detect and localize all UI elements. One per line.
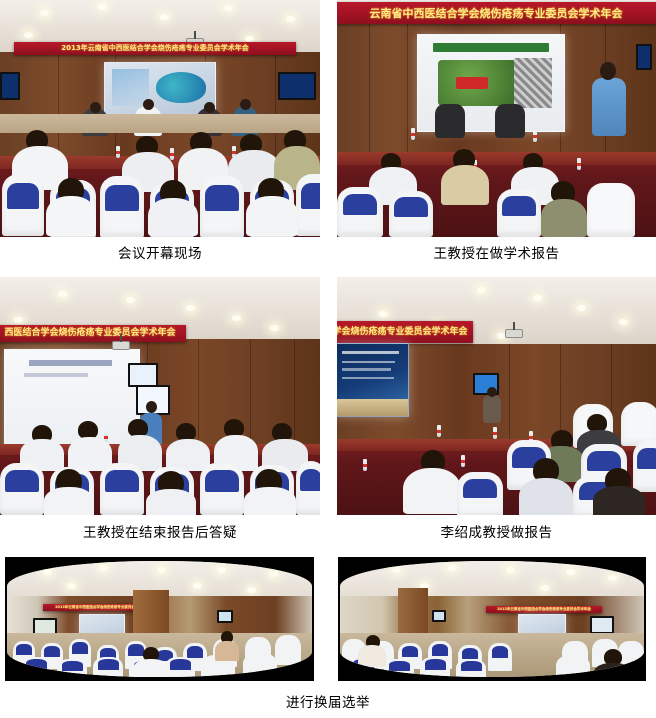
photo-image-3[interactable]: 西医结合学会烧伤疮疡专业委员会学术年会 xyxy=(0,277,320,515)
projection-screen xyxy=(337,343,409,417)
side-monitor xyxy=(128,363,158,387)
audience xyxy=(0,415,320,515)
photo-caption-3: 王教授在结束报告后答疑 xyxy=(0,523,320,543)
photo-image-6[interactable]: 2013年云南省中西医结合学会烧伤疮疡专业委员会学术年会 xyxy=(338,557,646,681)
hall-scene: 云南省中西医结合学会烧伤疮疡专业委员会学术年会 xyxy=(337,0,656,237)
audience xyxy=(337,147,656,237)
projection-screen xyxy=(104,62,216,116)
photo-image-1[interactable]: 2013年云南省中西医结合学会烧伤疮疡专业委员会学术年会 xyxy=(0,0,320,237)
photo-image-4[interactable]: 学会烧伤疮疡专业委员会学术年会 xyxy=(337,277,656,515)
conference-banner-6: 2013年云南省中西医结合学会烧伤疮疡专业委员会学术年会 xyxy=(486,606,602,613)
ceiling-light xyxy=(224,5,233,11)
speaker xyxy=(592,78,626,136)
ceiling-light xyxy=(98,4,107,10)
audience xyxy=(0,128,320,237)
photo-image-2[interactable]: 云南省中西医结合学会烧伤疮疡专业委员会学术年会 xyxy=(337,0,656,237)
photo-cell-6: 2013年云南省中西医结合学会烧伤疮疡专业委员会学术年会 xyxy=(338,557,646,681)
conference-banner-4: 学会烧伤疮疡专业委员会学术年会 xyxy=(337,321,473,343)
photo-caption-5: 进行换届选举 xyxy=(0,693,656,713)
photo-caption-2: 王教授在做学术报告 xyxy=(337,244,656,264)
conference-banner-1: 2013年云南省中西医结合学会烧伤疮疡专业委员会学术年会 xyxy=(14,42,296,55)
photo-row-2: 西医结合学会烧伤疮疡专业委员会学术年会 xyxy=(0,277,656,543)
projector-icon xyxy=(112,341,130,350)
photo-cell-4: 学会烧伤疮疡专业委员会学术年会 xyxy=(337,277,656,543)
hall-scene: 2013年云南省中西医结合学会烧伤疮疡专业委员会学术年会 xyxy=(0,0,320,237)
photo-cell-2: 云南省中西医结合学会烧伤疮疡专业委员会学术年会 xyxy=(337,0,656,264)
audience xyxy=(337,410,656,515)
photo-caption-1: 会议开幕现场 xyxy=(0,244,320,264)
hall-scene: 西医结合学会烧伤疮疡专业委员会学术年会 xyxy=(0,277,320,515)
photo-cell-1: 2013年云南省中西医结合学会烧伤疮疡专业委员会学术年会 xyxy=(0,0,320,264)
projector-icon xyxy=(505,329,523,338)
photo-caption-4: 李绍成教授做报告 xyxy=(337,523,656,543)
conference-banner-3: 西医结合学会烧伤疮疡专业委员会学术年会 xyxy=(0,325,186,342)
ceiling-light xyxy=(160,14,169,20)
side-monitor-left xyxy=(0,72,20,100)
ceiling-light xyxy=(40,10,49,16)
photo-cell-5: 2013年云南省中西医结合学会烧伤疮疡专业委员会学术年会 xyxy=(5,557,314,681)
side-monitor-right xyxy=(636,44,652,70)
ceiling-light xyxy=(24,32,33,38)
photo-row-3: 2013年云南省中西医结合学会烧伤疮疡专业委员会学术年会 xyxy=(0,557,656,681)
ceiling-light xyxy=(286,16,295,22)
side-monitor xyxy=(590,616,614,634)
photo-image-5[interactable]: 2013年云南省中西医结合学会烧伤疮疡专业委员会学术年会 xyxy=(5,557,314,681)
photo-gallery: 2013年云南省中西医结合学会烧伤疮疡专业委员会学术年会 xyxy=(0,0,656,713)
side-monitor xyxy=(217,610,233,623)
photo-cell-3: 西医结合学会烧伤疮疡专业委员会学术年会 xyxy=(0,277,320,543)
conference-banner-2: 云南省中西医结合学会烧伤疮疡专业委员会学术年会 xyxy=(337,2,656,24)
photo-row-1: 2013年云南省中西医结合学会烧伤疮疡专业委员会学术年会 xyxy=(0,0,656,264)
side-monitor-right xyxy=(278,72,316,100)
hall-scene: 学会烧伤疮疡专业委员会学术年会 xyxy=(337,277,656,515)
side-monitor xyxy=(432,610,446,622)
